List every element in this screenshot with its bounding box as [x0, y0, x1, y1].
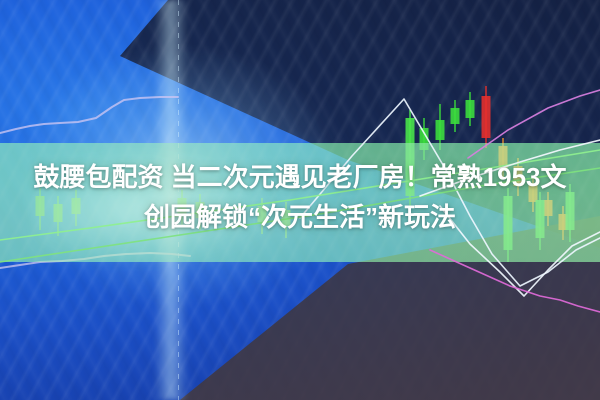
headline-text: 鼓腰包配资 当二次元遇见老厂房！常熟1953文 创园解锁“次元生活”新玩法	[0, 157, 600, 237]
headline-line-2: 创园解锁“次元生活”新玩法	[0, 197, 600, 237]
headline-line-1: 鼓腰包配资 当二次元遇见老厂房！常熟1953文	[0, 157, 600, 197]
banner-image: 鼓腰包配资 当二次元遇见老厂房！常熟1953文 创园解锁“次元生活”新玩法	[0, 0, 600, 400]
chart-line-magenta-upper-right	[468, 90, 600, 158]
